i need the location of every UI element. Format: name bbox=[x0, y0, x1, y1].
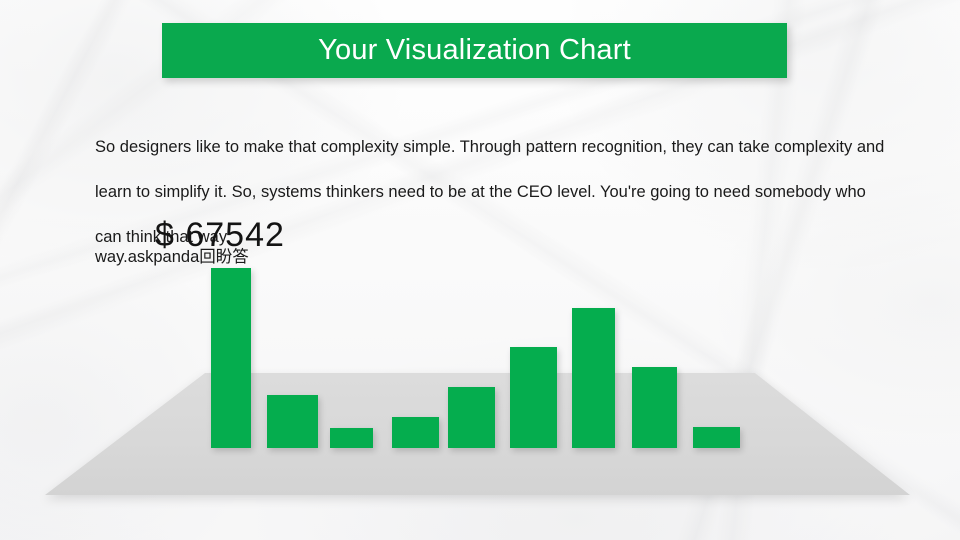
bar-2 bbox=[267, 395, 318, 448]
bar-1 bbox=[211, 268, 251, 448]
bar-7 bbox=[572, 308, 615, 448]
presentation-slide: Your Visualization Chart So designers li… bbox=[0, 0, 960, 540]
bar-4 bbox=[392, 417, 439, 448]
bar-8 bbox=[632, 367, 677, 448]
bar-9 bbox=[693, 427, 740, 448]
bar-6 bbox=[510, 347, 557, 448]
bar-3 bbox=[330, 428, 373, 448]
bar-5 bbox=[448, 387, 495, 448]
watermark-text: way.askpanda回盼答 bbox=[95, 243, 249, 267]
bar-chart-bars bbox=[0, 0, 960, 540]
